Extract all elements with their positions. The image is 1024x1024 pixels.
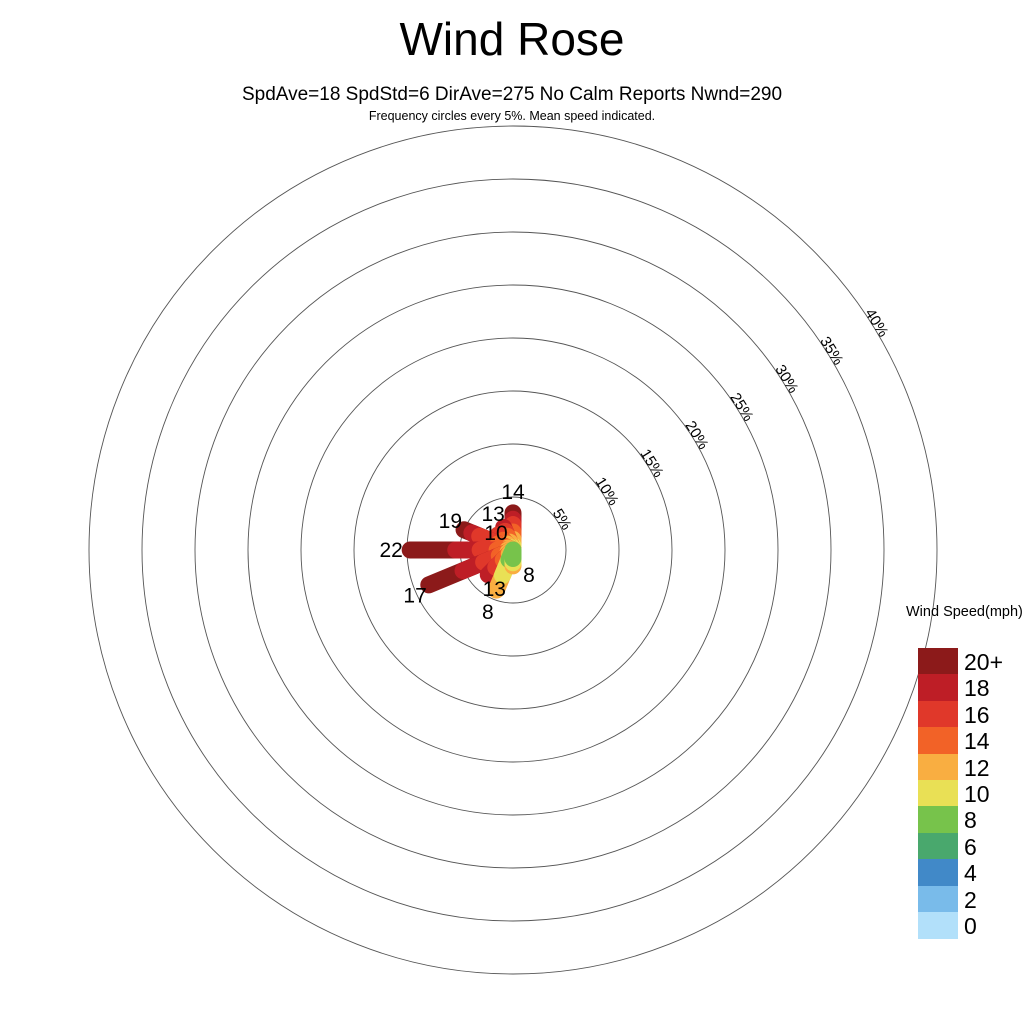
petal-mean-speed-label: 17 [403, 584, 426, 607]
legend-swatch [918, 727, 958, 754]
ring-label: 40% [861, 306, 891, 340]
ring-label: 15% [636, 446, 666, 480]
wind-speed-legend: 20+181614121086420 [918, 648, 1024, 938]
ring-labels: 5%10%15%20%25%30%35%40% [549, 306, 892, 534]
legend-swatch [918, 648, 958, 675]
petal-mean-speed-label: 10 [484, 522, 507, 545]
legend-label: 16 [964, 704, 1022, 727]
ring-label: 25% [726, 390, 756, 424]
legend-label: 8 [964, 809, 1022, 832]
legend-label: 10 [964, 783, 1022, 806]
legend-label: 14 [964, 730, 1022, 753]
legend-swatch [918, 701, 958, 728]
ring-label: 35% [816, 334, 846, 368]
legend-swatch [918, 912, 958, 939]
ring-label: 20% [681, 418, 711, 452]
petal-mean-speed-label: 14 [501, 481, 525, 504]
legend-label: 6 [964, 836, 1022, 859]
legend-swatch [918, 780, 958, 807]
ring-label: 5% [549, 506, 575, 533]
legend-title: Wind Speed(mph) [906, 604, 1023, 620]
legend-swatch [918, 806, 958, 833]
legend-label: 12 [964, 757, 1022, 780]
legend-swatch [918, 833, 958, 860]
legend-swatch [918, 859, 958, 886]
legend-label: 0 [964, 915, 1022, 938]
legend-label: 20+ [964, 651, 1022, 674]
legend-swatch [918, 754, 958, 781]
legend-label: 4 [964, 862, 1022, 885]
petal-mean-speed-label: 13 [483, 578, 506, 601]
petal-mean-speed-label: 8 [523, 564, 535, 587]
ring-label: 10% [592, 474, 622, 508]
petal-mean-speed-label: 8 [482, 601, 494, 624]
wind-rose-page: Wind Rose SpdAve=18 SpdStd=6 DirAve=275 … [0, 0, 1024, 1024]
legend-label: 18 [964, 677, 1022, 700]
petal-mean-speed-label: 19 [439, 510, 462, 533]
wind-rose-plot: 5%10%15%20%25%30%35%40% 1413101922171388 [0, 0, 1024, 1024]
petal-mean-speed-label: 22 [380, 539, 403, 562]
ring-label: 30% [771, 362, 801, 396]
legend-label: 2 [964, 889, 1022, 912]
legend-swatch [918, 886, 958, 913]
legend-swatch [918, 674, 958, 701]
